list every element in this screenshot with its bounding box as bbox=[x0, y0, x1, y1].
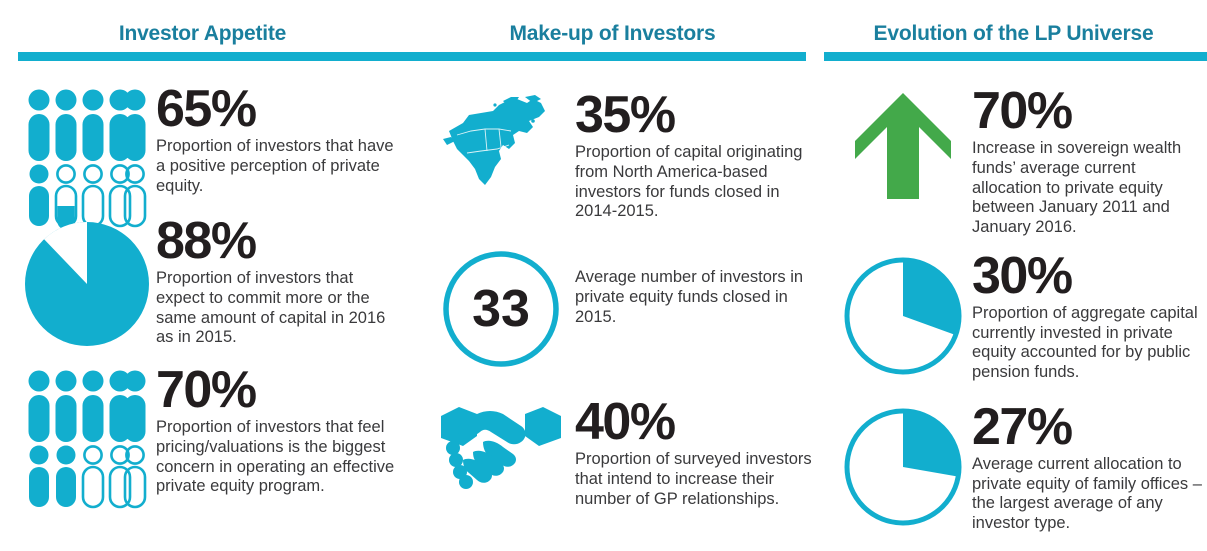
stat-text: Average number of investors in private e… bbox=[571, 246, 812, 327]
icon-cell bbox=[431, 398, 571, 494]
stat-row: 70% Proportion of investors that feel pr… bbox=[0, 366, 405, 497]
stat-text: 70% Proportion of investors that feel pr… bbox=[152, 366, 405, 497]
column-rule-divider bbox=[824, 52, 1207, 61]
column-header: Evolution of the LP Universe bbox=[820, 0, 1207, 50]
stat-caption: Average current allocation to private eq… bbox=[972, 455, 1207, 534]
stat-row: 40% Proportion of surveyed investors tha… bbox=[413, 398, 812, 509]
stat-value: 27% bbox=[972, 403, 1207, 453]
stat-row: 65% Proportion of investors that have a … bbox=[0, 85, 405, 201]
icon-cell bbox=[838, 403, 968, 527]
icon-cell bbox=[838, 87, 968, 201]
stat-text: 88% Proportion of investors that expect … bbox=[152, 217, 405, 348]
north-america-map-icon bbox=[441, 95, 561, 195]
column-investor-appetite: Investor Appetite bbox=[0, 0, 405, 551]
stat-text: 35% Proportion of capital originating fr… bbox=[571, 91, 812, 222]
column-title: Investor Appetite bbox=[119, 22, 286, 46]
icon-cell bbox=[22, 366, 152, 482]
icon-cell bbox=[838, 252, 968, 376]
handshake-icon bbox=[439, 402, 563, 494]
stat-row: 70% Increase in sovereign wealth funds’ … bbox=[820, 87, 1207, 238]
stat-text: 27% Average current allocation to privat… bbox=[968, 403, 1207, 534]
stat-value: 70% bbox=[972, 87, 1207, 137]
column-header: Investor Appetite bbox=[0, 0, 405, 50]
infographic-board: Investor Appetite bbox=[0, 0, 1207, 551]
people-pictogram-icon bbox=[28, 370, 146, 482]
stat-row: 35% Proportion of capital originating fr… bbox=[413, 91, 812, 222]
stat-value: 35% bbox=[575, 91, 812, 141]
pie-chart-icon bbox=[843, 407, 963, 527]
stat-caption: Proportion of capital originating from N… bbox=[575, 143, 812, 222]
stat-caption: Average number of investors in private e… bbox=[575, 268, 812, 327]
stat-value: 70% bbox=[156, 366, 405, 416]
column-header: Make-up of Investors bbox=[413, 0, 812, 50]
stat-value: 40% bbox=[575, 398, 812, 448]
column-title: Evolution of the LP Universe bbox=[874, 22, 1154, 46]
column-rule-divider bbox=[418, 52, 806, 61]
pie-chart-icon bbox=[843, 256, 963, 376]
stat-caption: Proportion of aggregate capital currentl… bbox=[972, 304, 1207, 383]
stat-row: 30% Proportion of aggregate capital curr… bbox=[820, 252, 1207, 383]
stat-text: 65% Proportion of investors that have a … bbox=[152, 85, 405, 196]
stat-value: 65% bbox=[156, 85, 405, 135]
stat-list: 65% Proportion of investors that have a … bbox=[0, 61, 405, 497]
up-arrow-icon bbox=[853, 91, 953, 201]
stat-list: 35% Proportion of capital originating fr… bbox=[413, 61, 812, 509]
stat-text: 40% Proportion of surveyed investors tha… bbox=[571, 398, 812, 509]
pie-chart-icon bbox=[24, 221, 150, 347]
stat-value: 88% bbox=[156, 217, 405, 267]
icon-cell bbox=[22, 85, 152, 201]
people-pictogram-icon bbox=[28, 89, 146, 201]
icon-cell bbox=[431, 91, 571, 195]
stat-caption: Proportion of surveyed investors that in… bbox=[575, 450, 812, 509]
column-makeup-of-investors: Make-up of Investors bbox=[405, 0, 812, 551]
stat-caption: Increase in sovereign wealth funds’ aver… bbox=[972, 139, 1207, 238]
stat-caption: Proportion of investors that expect to c… bbox=[156, 269, 405, 348]
stat-value: 30% bbox=[972, 252, 1207, 302]
icon-cell bbox=[22, 217, 152, 347]
stat-caption: Proportion of investors that have a posi… bbox=[156, 137, 405, 196]
column-rule-divider bbox=[18, 52, 418, 61]
circle-number-icon: 33 bbox=[442, 250, 560, 368]
icon-cell: 33 bbox=[431, 246, 571, 368]
circle-number-value: 33 bbox=[472, 280, 530, 338]
stat-list: 70% Increase in sovereign wealth funds’ … bbox=[820, 61, 1207, 534]
stat-row: 88% Proportion of investors that expect … bbox=[0, 217, 405, 348]
column-title: Make-up of Investors bbox=[509, 22, 715, 46]
stat-caption: Proportion of investors that feel pricin… bbox=[156, 418, 405, 497]
stat-row: 33 Average number of investors in privat… bbox=[413, 246, 812, 368]
stat-text: 30% Proportion of aggregate capital curr… bbox=[968, 252, 1207, 383]
column-evolution-of-lp-universe: Evolution of the LP Universe 70% Increas… bbox=[812, 0, 1207, 551]
stat-row: 27% Average current allocation to privat… bbox=[820, 403, 1207, 534]
stat-text: 70% Increase in sovereign wealth funds’ … bbox=[968, 87, 1207, 238]
